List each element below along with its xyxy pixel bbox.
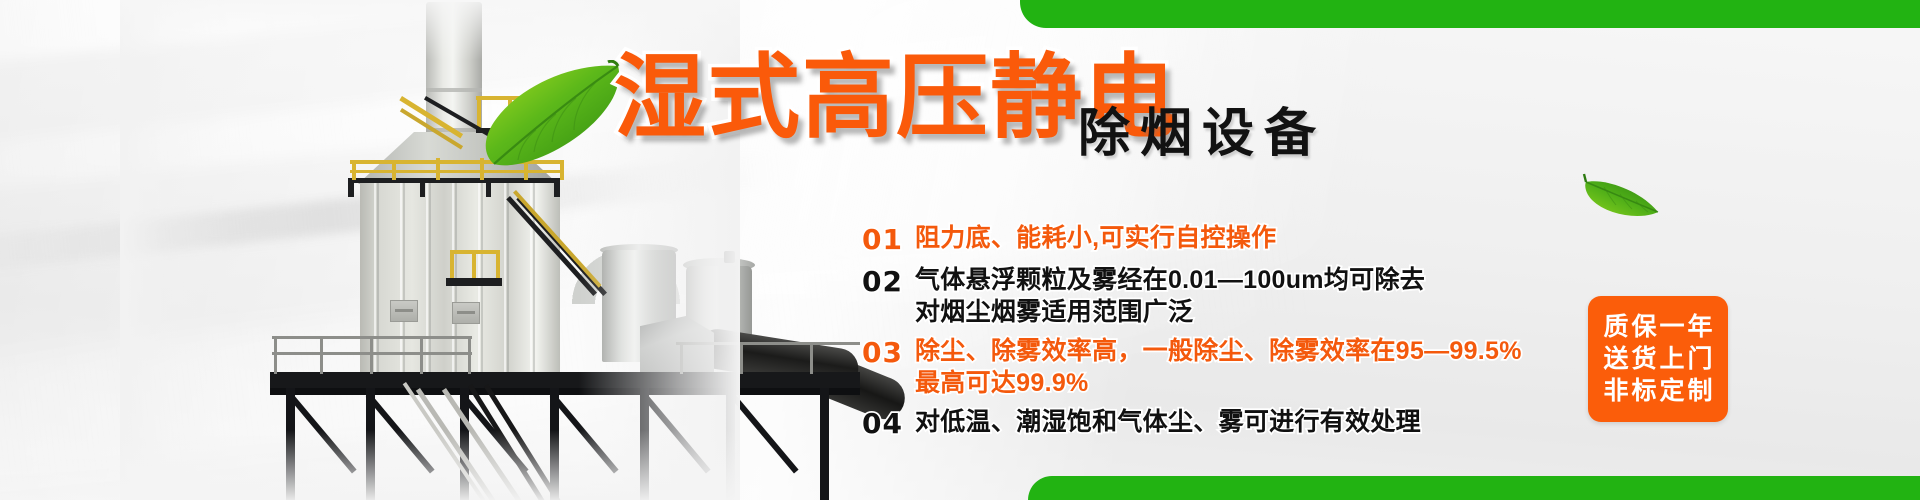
platform-post xyxy=(554,183,560,197)
support-leg xyxy=(820,388,829,500)
leaf-icon xyxy=(478,60,628,175)
leg-brace xyxy=(366,393,435,473)
feature-list: 01 阻力底、能耗小,可实行自控操作 02 气体悬浮颗粒及雾经在0.01—100… xyxy=(862,222,1562,448)
handrail-post xyxy=(392,160,396,180)
green-accent-bar-bottom xyxy=(1028,476,1920,500)
feature-item-04: 04 对低温、潮湿饱和气体尘、雾可进行有效处理 xyxy=(862,406,1562,442)
feature-line-1: 对低温、潮湿饱和气体尘、雾可进行有效处理 xyxy=(915,408,1421,436)
deck-handrail xyxy=(676,342,860,345)
guarantee-badge[interactable]: 质保一年 送货上门 非标定制 xyxy=(1588,296,1728,422)
page-subtitle: 除烟设备 xyxy=(1078,108,1326,160)
support-leg xyxy=(726,388,735,500)
mid-landing xyxy=(446,278,502,286)
handrail-post xyxy=(420,336,423,374)
steel-deck-edge xyxy=(270,388,860,395)
vessel-nozzle xyxy=(724,251,735,263)
leg-brace xyxy=(550,393,619,473)
feature-text: 对低温、潮湿饱和气体尘、雾可进行有效处理 xyxy=(915,406,1421,439)
handrail-post xyxy=(436,158,440,180)
feature-number: 03 xyxy=(862,335,903,371)
handrail-post xyxy=(680,342,683,374)
feature-item-03: 03 除尘、除雾效率高，一般除尘、除雾效率在95—99.5% 最高可达99.9% xyxy=(862,335,1562,400)
handrail-post xyxy=(274,336,277,374)
handrail-post xyxy=(370,336,373,374)
leaf-icon xyxy=(1582,168,1664,229)
leg-brace xyxy=(642,393,711,473)
handrail-post xyxy=(320,336,323,374)
badge-line-1: 质保一年 xyxy=(1600,311,1715,343)
platform-post xyxy=(420,183,425,197)
handrail-post xyxy=(810,342,813,374)
feature-number: 02 xyxy=(862,264,903,300)
feature-text: 除尘、除雾效率高，一般除尘、除雾效率在95—99.5% 最高可达99.9% xyxy=(915,335,1522,400)
feature-line-2: 对烟尘烟雾适用范围广泛 xyxy=(915,296,1425,329)
handrail-post xyxy=(496,250,500,280)
handrail-post xyxy=(450,250,454,280)
feature-item-02: 02 气体悬浮颗粒及雾经在0.01—100um均可除去 对烟尘烟雾适用范围广泛 xyxy=(862,264,1562,329)
chimney-band xyxy=(426,88,482,92)
handrail-post xyxy=(352,160,356,180)
feature-line-1: 除尘、除雾效率高，一般除尘、除雾效率在95—99.5% xyxy=(915,337,1522,365)
feature-text: 气体悬浮颗粒及雾经在0.01—100um均可除去 对烟尘烟雾适用范围广泛 xyxy=(915,264,1425,329)
handrail-post xyxy=(472,250,476,280)
feature-number: 01 xyxy=(862,222,903,258)
yellow-handrail xyxy=(450,250,498,254)
badge-line-3: 非标定制 xyxy=(1600,375,1715,407)
leg-brace xyxy=(288,393,357,473)
badge-line-2: 送货上门 xyxy=(1600,343,1715,375)
platform-post xyxy=(486,183,491,197)
feature-item-01: 01 阻力底、能耗小,可实行自控操作 xyxy=(862,222,1562,258)
green-accent-bar-top xyxy=(1020,0,1920,28)
feature-text: 阻力底、能耗小,可实行自控操作 xyxy=(915,222,1276,255)
promo-banner: 湿式高压静电 除烟设备 01 阻力底、能耗小,可实行自控操作 02 气体悬浮颗粒… xyxy=(0,0,1920,500)
steel-deck xyxy=(270,372,860,388)
feature-line-1: 阻力底、能耗小,可实行自控操作 xyxy=(915,224,1276,252)
handrail-post xyxy=(740,342,743,374)
handrail-post xyxy=(468,336,471,374)
platform-post xyxy=(348,183,354,197)
platform-beam xyxy=(348,178,560,183)
feature-line-2: 最高可达99.9% xyxy=(915,367,1522,400)
feature-line-1: 气体悬浮颗粒及雾经在0.01—100um均可除去 xyxy=(915,266,1425,294)
feature-number: 04 xyxy=(862,406,903,442)
leg-brace xyxy=(730,393,799,473)
